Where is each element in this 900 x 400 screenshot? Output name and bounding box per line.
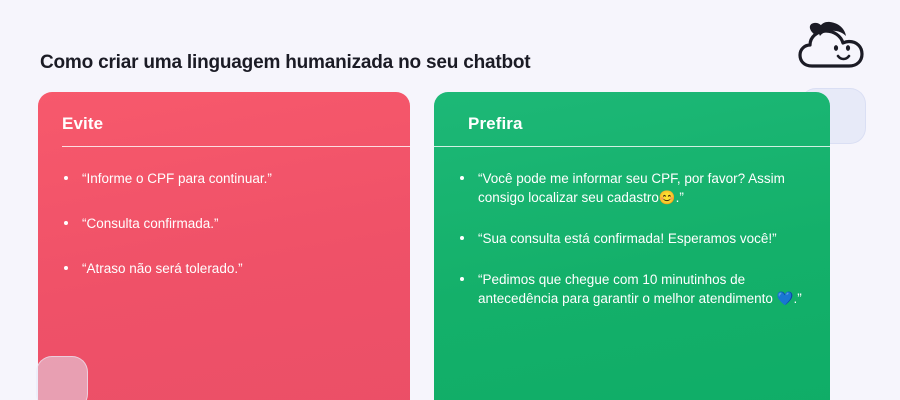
- list-item: “Você pode me informar seu CPF, por favo…: [458, 169, 808, 207]
- cloud-face-logo: [796, 18, 868, 80]
- card-evite: Evite “Informe o CPF para continuar.” “C…: [38, 92, 410, 400]
- card-prefira-bullet-list: “Você pode me informar seu CPF, por favo…: [434, 147, 830, 308]
- card-evite-divider: [62, 146, 410, 147]
- slide-canvas: Como criar uma linguagem humanizada no s…: [0, 0, 900, 400]
- list-item: “Informe o CPF para continuar.”: [62, 169, 392, 188]
- card-prefira-title: Prefira: [468, 114, 830, 134]
- list-item: “Atraso não será tolerado.”: [62, 259, 392, 278]
- list-item: “Consulta confirmada.”: [62, 214, 392, 233]
- card-evite-title: Evite: [62, 114, 410, 134]
- card-evite-header: Evite: [38, 92, 410, 147]
- decoration-square-bottom-left: [36, 356, 88, 400]
- card-prefira-header: Prefira: [434, 92, 830, 147]
- list-item: “Pedimos que chegue com 10 minutinhos de…: [458, 270, 808, 308]
- card-prefira-divider: [434, 146, 830, 147]
- page-title: Como criar uma linguagem humanizada no s…: [40, 52, 530, 74]
- card-evite-bullet-list: “Informe o CPF para continuar.” “Consult…: [38, 147, 410, 278]
- card-prefira: Prefira “Você pode me informar seu CPF, …: [434, 92, 830, 400]
- list-item: “Sua consulta está confirmada! Esperamos…: [458, 229, 808, 248]
